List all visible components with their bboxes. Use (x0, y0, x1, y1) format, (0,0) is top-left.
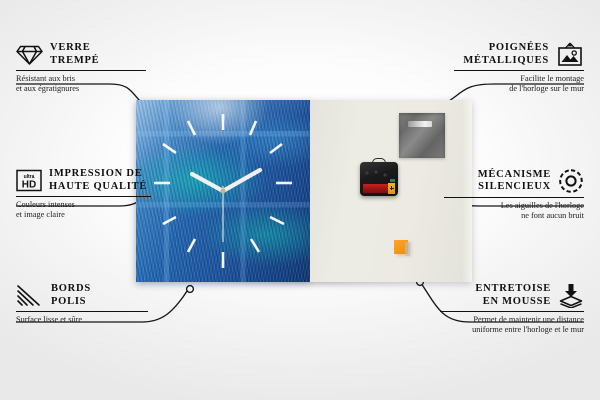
callout-header: ENTRETOISE EN MOUSSE (440, 283, 584, 308)
callout-poignees-metalliques: POIGNÉES MÉTALLIQUES Facilite le montage… (454, 42, 584, 94)
callout-divider (16, 196, 151, 197)
hour-hand (192, 174, 223, 191)
gear-icon (558, 168, 584, 194)
diamond-icon (16, 43, 43, 66)
callout-divider (444, 197, 584, 198)
hanging-picture-frame-icon (556, 42, 584, 67)
svg-text:HD: HD (22, 180, 36, 191)
clock-mechanism (360, 158, 398, 196)
clock-center-cap (220, 188, 225, 193)
callout-bords-polis: BORDS POLIS Surface lisse et sûre (16, 283, 148, 325)
polished-edge-icon (16, 284, 44, 308)
clock-hands (136, 100, 310, 282)
mechanism-housing (360, 162, 398, 196)
clock-front-panel (136, 100, 310, 282)
mechanism-detail-dots (364, 170, 390, 181)
callout-header: ultra HD IMPRESSION DE HAUTE QUALITÉ (16, 168, 151, 193)
minute-hand (223, 170, 260, 191)
callout-title: ENTRETOISE EN MOUSSE (475, 283, 551, 308)
callout-entretoise-en-mousse: ENTRETOISE EN MOUSSE Permet de maintenir… (440, 283, 584, 335)
callout-title: MÉCANISME SILENCIEUX (478, 169, 551, 194)
callout-header: BORDS POLIS (16, 283, 148, 308)
callout-mecanisme-silencieux: MÉCANISME SILENCIEUX Les aiguilles de l'… (444, 168, 584, 221)
foam-spacer-arrow-icon (558, 283, 584, 308)
infographic-stage: VERRE TREMPÉ Résistant aux bris et aux é… (0, 0, 600, 400)
callout-header: VERRE TREMPÉ (16, 42, 146, 67)
callout-desc-line-1: Permet de maintenir une distance (440, 315, 584, 325)
callout-desc-line-2: de l'horloge sur le mur (454, 84, 584, 94)
callout-header: MÉCANISME SILENCIEUX (444, 168, 584, 194)
callout-title: BORDS POLIS (51, 283, 91, 308)
callout-desc-line-1: Surface lisse et sûre (16, 315, 148, 325)
callout-divider (16, 70, 146, 71)
callout-title: IMPRESSION DE HAUTE QUALITÉ (49, 168, 147, 193)
callout-divider (440, 311, 584, 312)
callout-title: VERRE TREMPÉ (50, 42, 99, 67)
callout-divider (454, 70, 584, 71)
mechanism-green-marker (390, 179, 395, 182)
callout-desc-line-2: et image claire (16, 210, 151, 220)
callout-desc-line-2: et aux égratignures (16, 84, 146, 94)
callout-title: POIGNÉES MÉTALLIQUES (463, 42, 549, 67)
callout-verre-trempe: VERRE TREMPÉ Résistant aux bris et aux é… (16, 42, 146, 94)
aa-battery (363, 184, 394, 193)
battery-plus-terminal (388, 183, 395, 194)
plate-keyhole-slot (408, 121, 432, 127)
foam-spacer-pad (394, 240, 408, 254)
ultra-hd-icon: ultra HD (16, 169, 42, 192)
callout-divider (16, 311, 148, 312)
plate-texture (399, 113, 445, 158)
callout-desc-line-2: uniforme entre l'horloge et le mur (440, 325, 584, 335)
callout-desc-line-1: Résistant aux bris (16, 74, 146, 84)
callout-desc-line-1: Les aiguilles de l'horloge (444, 201, 584, 211)
callout-desc-line-1: Facilite le montage (454, 74, 584, 84)
metal-hanger-plate (399, 113, 445, 158)
callout-desc-line-2: ne font aucun bruit (444, 211, 584, 221)
product-image (136, 100, 472, 282)
callout-impression-haute-qualite: ultra HD IMPRESSION DE HAUTE QUALITÉ Cou… (16, 168, 151, 220)
callout-desc-line-1: Couleurs intenses (16, 200, 151, 210)
callout-header: POIGNÉES MÉTALLIQUES (454, 42, 584, 67)
